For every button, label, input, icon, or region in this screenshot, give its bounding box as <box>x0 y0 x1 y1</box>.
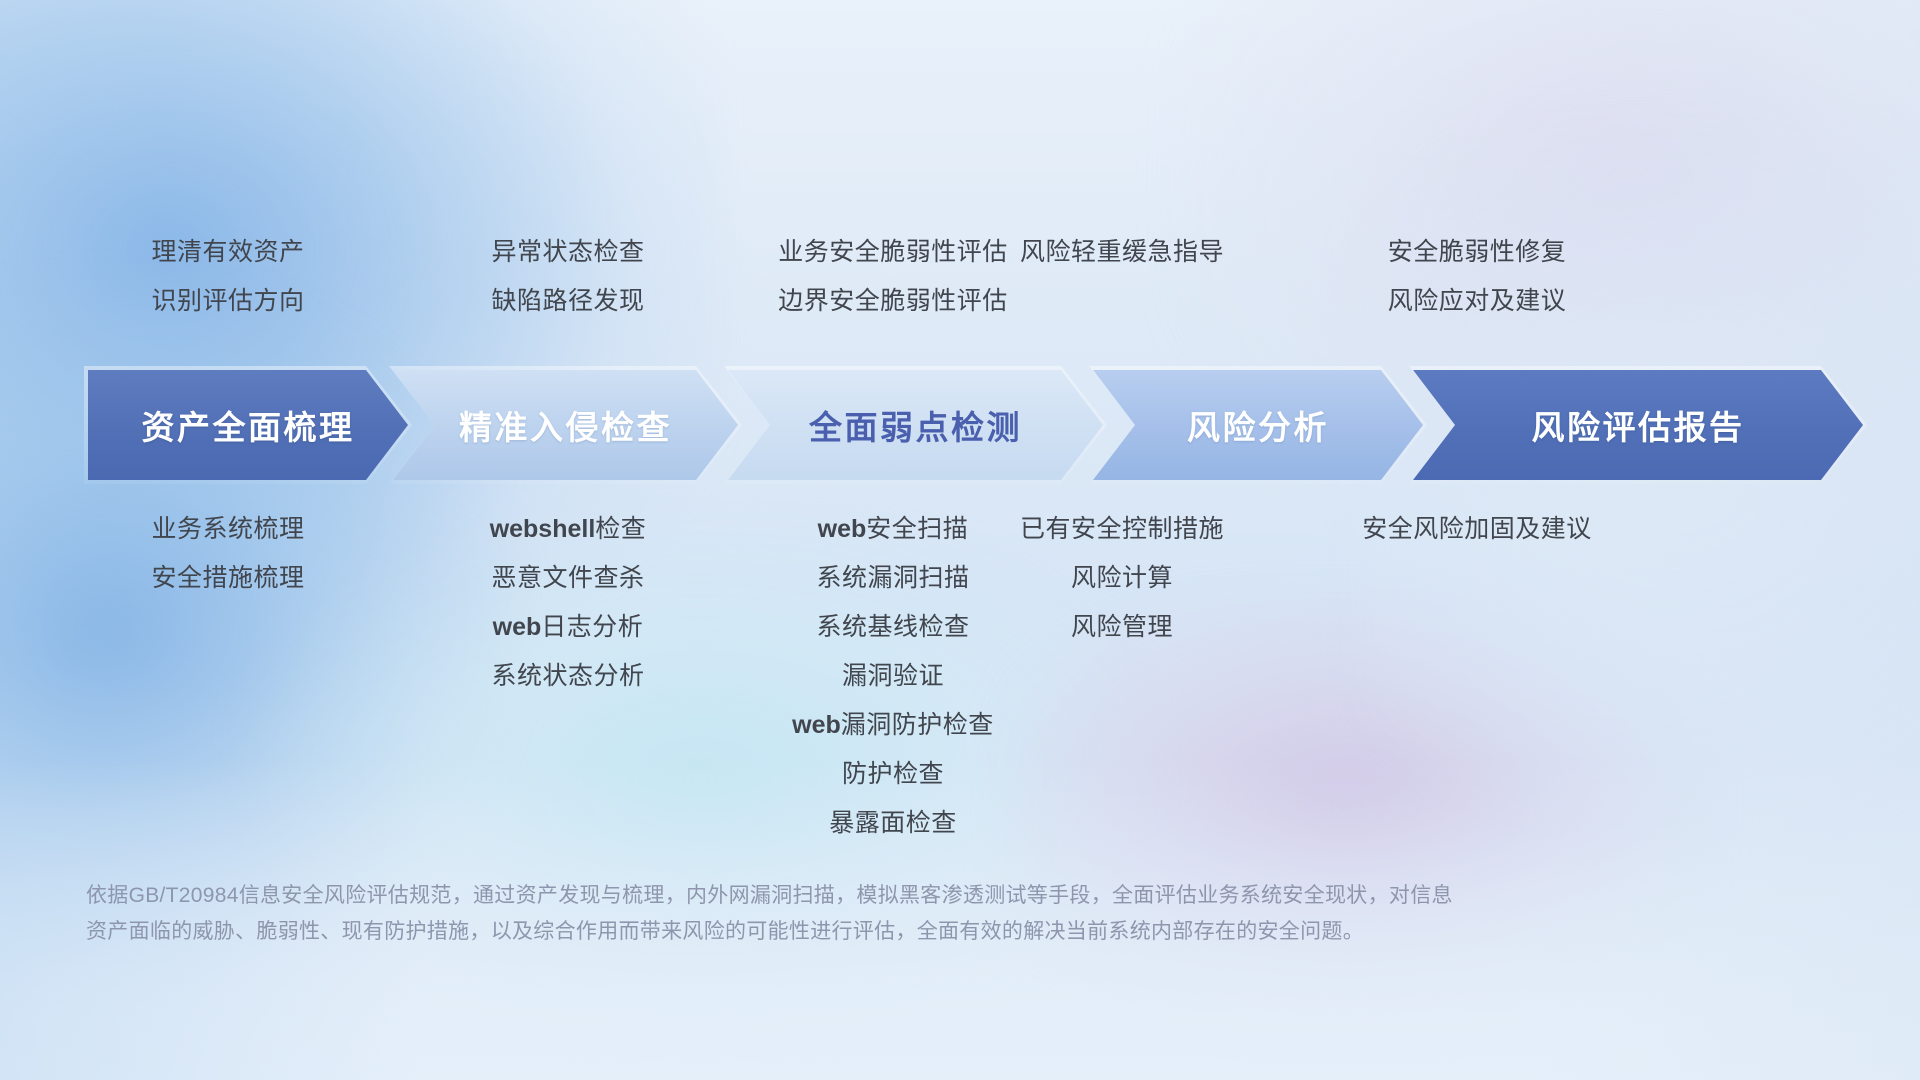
list-item: 风险应对及建议 <box>1267 277 1687 326</box>
outcomes-risk-analysis: 风险轻重缓急指导 <box>942 228 1302 277</box>
stage-title: 风险分析 <box>1187 401 1329 449</box>
list-item: 理清有效资产 <box>48 228 408 277</box>
list-item: 识别评估方向 <box>48 277 408 326</box>
list-item: 安全风险加固及建议 <box>1267 505 1687 554</box>
footer-line-1: 依据GB/T20984信息安全风险评估规范，通过资产发现与梳理，内外网漏洞扫描，… <box>86 878 1506 914</box>
process-diagram: 理清有效资产识别评估方向 异常状态检查缺陷路径发现 业务安全脆弱性评估边界安全脆… <box>0 0 1920 1080</box>
stage-title: 精准入侵检查 <box>459 401 672 449</box>
activities-risk-analysis: 已有安全控制措施风险计算风险管理 <box>942 505 1302 652</box>
list-item: 风险管理 <box>942 603 1302 652</box>
outcomes-assessment-report: 安全脆弱性修复风险应对及建议 <box>1267 228 1687 326</box>
stage-title: 全面弱点检测 <box>809 401 1022 449</box>
list-item-emphasis: web <box>818 515 867 543</box>
stage-chevron-assessment-report[interactable]: 风险评估报告 <box>1413 370 1863 480</box>
list-item: 边界安全脆弱性评估 <box>683 277 1103 326</box>
list-item: 已有安全控制措施 <box>942 505 1302 554</box>
list-item-emphasis: web <box>792 711 841 739</box>
list-item: 暴露面检查 <box>683 799 1103 848</box>
outcomes-asset-inventory: 理清有效资产识别评估方向 <box>48 228 408 326</box>
stage-chevron-band: 资产全面梳理精准入侵检查全面弱点检测风险分析风险评估报告 <box>88 370 1863 480</box>
list-item: 安全措施梳理 <box>48 554 408 603</box>
list-item-emphasis: web <box>493 613 542 641</box>
list-item: 防护检查 <box>683 750 1103 799</box>
stage-chevron-asset-inventory[interactable]: 资产全面梳理 <box>88 370 408 480</box>
list-item: 风险计算 <box>942 554 1302 603</box>
list-item: 风险轻重缓急指导 <box>942 228 1302 277</box>
list-item: 安全脆弱性修复 <box>1267 228 1687 277</box>
stage-title: 风险评估报告 <box>1532 401 1745 449</box>
activities-assessment-report: 安全风险加固及建议 <box>1267 505 1687 554</box>
activities-asset-inventory: 业务系统梳理安全措施梳理 <box>48 505 408 603</box>
list-item: 业务系统梳理 <box>48 505 408 554</box>
list-item: web漏洞防护检查 <box>683 701 1103 750</box>
list-item: 漏洞验证 <box>683 652 1103 701</box>
footer-description: 依据GB/T20984信息安全风险评估规范，通过资产发现与梳理，内外网漏洞扫描，… <box>86 878 1506 950</box>
stage-title: 资产全面梳理 <box>142 401 355 449</box>
footer-line-2: 资产面临的威胁、脆弱性、现有防护措施，以及综合作用而带来风险的可能性进行评估，全… <box>86 914 1506 950</box>
stage-chevron-intrusion-check[interactable]: 精准入侵检查 <box>393 370 738 480</box>
stage-chevron-weakness-detection[interactable]: 全面弱点检测 <box>728 370 1103 480</box>
activities-row: 业务系统梳理安全措施梳理 webshell检查恶意文件查杀web日志分析系统状态… <box>0 505 1920 835</box>
stage-chevron-risk-analysis[interactable]: 风险分析 <box>1093 370 1423 480</box>
list-item-emphasis: webshell <box>490 515 596 543</box>
outcomes-row: 理清有效资产识别评估方向 异常状态检查缺陷路径发现 业务安全脆弱性评估边界安全脆… <box>0 228 1920 338</box>
